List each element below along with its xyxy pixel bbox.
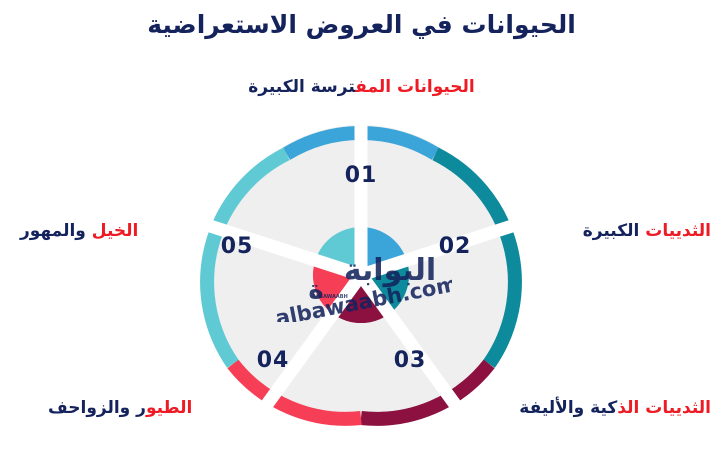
segment-label-04-highlight: الطيو <box>146 398 192 418</box>
segment-label-02-highlight: الثدييات <box>645 221 711 241</box>
segment-label-04[interactable]: الطيور والزواحف <box>48 397 192 419</box>
segment-label-02[interactable]: الثدييات الكبيرة <box>583 220 711 242</box>
segment-label-01-highlight: الحيوانات المف <box>355 77 475 97</box>
segment-number-04: 04 <box>243 348 303 373</box>
donut-chart <box>181 110 541 440</box>
donut-hub <box>313 227 409 323</box>
segment-label-05[interactable]: الخيل والمهور <box>20 220 138 242</box>
segment-label-01-plain: ترسة الكبيرة <box>248 77 355 97</box>
segment-label-03-highlight: الثدييات الذ <box>617 398 711 418</box>
segment-number-02: 02 <box>425 234 485 259</box>
segment-label-04-plain: ر والزواحف <box>48 398 146 418</box>
page-title: الحيوانات في العروض الاستعراضية <box>0 8 723 42</box>
segment-label-01[interactable]: الحيوانات المفترسة الكبيرة <box>0 76 723 98</box>
segment-number-03: 03 <box>380 348 440 373</box>
segment-label-02-plain: الكبيرة <box>583 221 646 241</box>
segment-label-05-highlight: الخيل <box>92 221 139 241</box>
segment-number-05: 05 <box>207 234 267 259</box>
segment-label-03-plain: كية والأليفة <box>519 398 617 418</box>
segment-label-03[interactable]: الثدييات الذكية والأليفة <box>519 397 711 419</box>
donut-chart-svg <box>181 110 541 440</box>
segment-label-05-plain: والمهور <box>20 221 92 241</box>
infographic-canvas: الحيوانات في العروض الاستعراضية <box>0 0 723 449</box>
segment-number-01: 01 <box>331 163 391 188</box>
